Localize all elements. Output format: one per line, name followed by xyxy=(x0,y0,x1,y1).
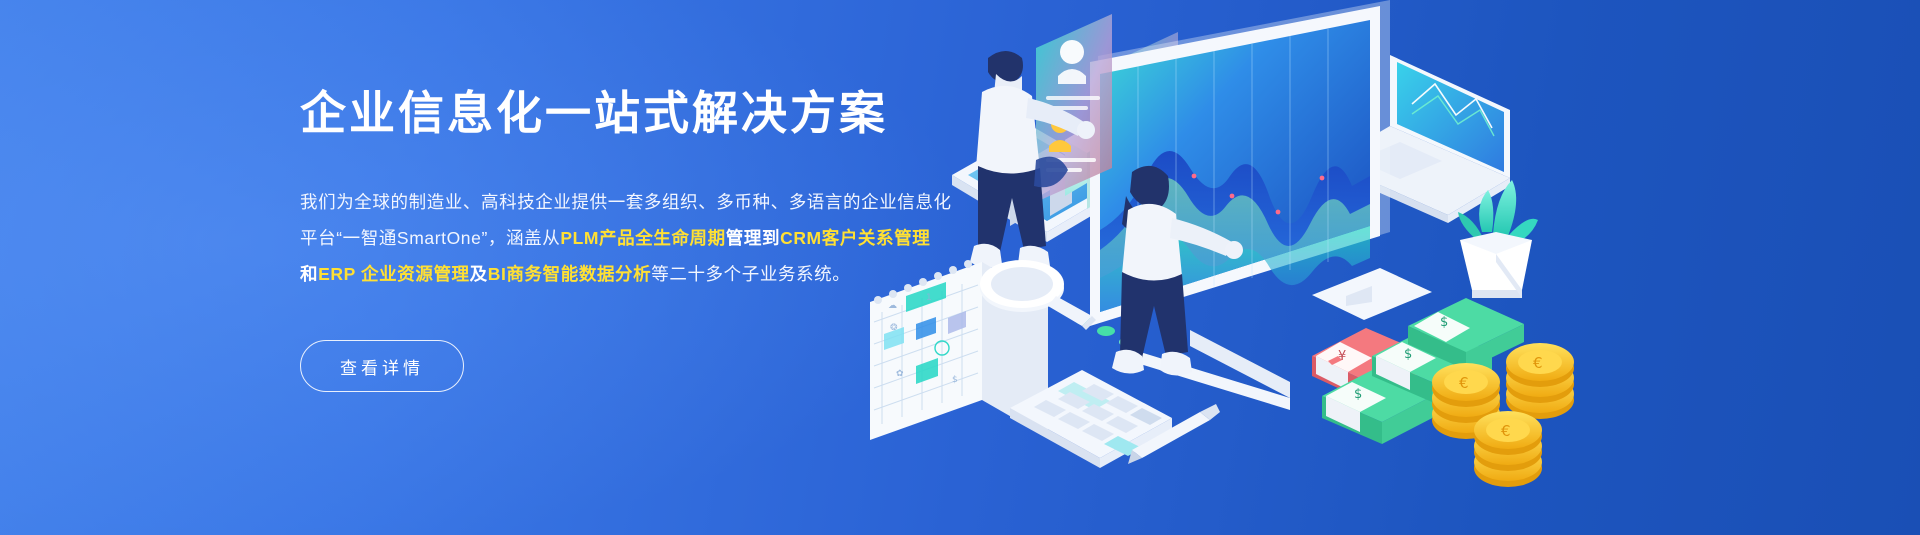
description-line-1: 我们为全球的制造业、高科技企业提供一套多组织、多币种、多语言的企业信息化 xyxy=(300,192,952,212)
svg-text:€: € xyxy=(1501,422,1511,440)
description-line-2-plain-b: 管理到 xyxy=(726,228,780,248)
svg-text:€: € xyxy=(1459,374,1469,392)
description-line-3-plain-b: 及 xyxy=(470,264,488,284)
euro-coin-stacks-icon: € € xyxy=(1432,343,1574,487)
svg-text:$: $ xyxy=(1354,387,1362,402)
page-title: 企业信息化一站式解决方案 xyxy=(300,86,990,140)
svg-text:¥: ¥ xyxy=(1338,349,1346,364)
highlight-bi: BI商务智能数据分析 xyxy=(488,264,652,284)
highlight-plm: PLM产品全生命周期 xyxy=(560,228,725,248)
highlight-erp: ERP 企业资源管理 xyxy=(318,264,470,284)
description-line-3-plain-a: 和 xyxy=(300,264,318,284)
description-line-2-plain-a: 平台“一智通SmartOne”，涵盖从 xyxy=(300,228,560,248)
svg-text:$: $ xyxy=(1404,347,1412,362)
hero-copy-block: 企业信息化一站式解决方案 我们为全球的制造业、高科技企业提供一套多组织、多币种、… xyxy=(300,86,990,392)
highlight-crm: CRM客户关系管理 xyxy=(780,228,930,248)
svg-text:€: € xyxy=(1533,354,1543,372)
description-line-3-plain-c: 等二十多个子业务系统。 xyxy=(651,264,850,284)
paper-card-icon xyxy=(1312,268,1432,320)
svg-text:$: $ xyxy=(1440,315,1448,330)
view-details-button[interactable]: 查看详情 xyxy=(300,340,464,392)
hero-description: 我们为全球的制造业、高科技企业提供一套多组织、多币种、多语言的企业信息化 平台“… xyxy=(300,184,972,292)
hero-banner: ☁1 ❂✿$ xyxy=(0,0,1920,535)
isometric-illustration: ☁1 ❂✿$ xyxy=(860,0,1920,535)
